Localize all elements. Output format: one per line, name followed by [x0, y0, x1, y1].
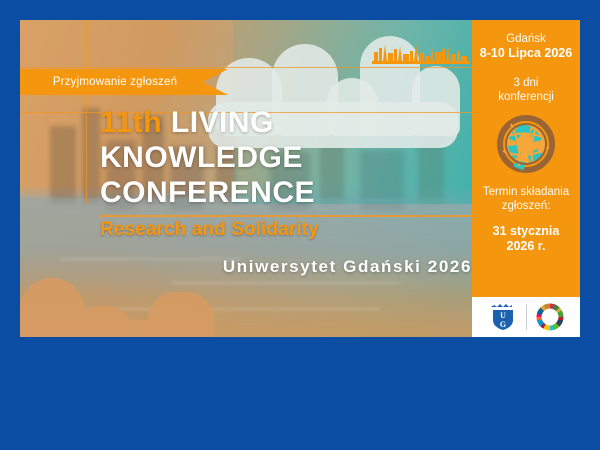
logo-divider: [526, 304, 527, 330]
deadline-value-line-1: 31 stycznia: [478, 224, 574, 240]
info-sidebar: Gdańsk 8-10 Lipca 2026 3 dni konferencji: [472, 20, 580, 297]
headline-line-2: KNOWLEDGE: [100, 141, 470, 176]
university-of-gdansk-crest: U G: [488, 302, 518, 332]
headline-block: 11th LIVING KNOWLEDGE CONFERENCE Researc…: [100, 106, 470, 277]
deadline-value-line-2: 2026 r.: [478, 239, 574, 255]
conference-banner: Przyjmowanie zgłoszeń 11th LIVING KNOWLE…: [20, 20, 580, 337]
sidebar-dates: 8-10 Lipca 2026: [478, 46, 574, 62]
globe-icon: [497, 115, 555, 173]
city-skyline-icon: [372, 40, 470, 64]
sdg-color-wheel-icon: [535, 302, 565, 332]
guide-line-vertical: [86, 20, 87, 204]
headline-line-3: CONFERENCE: [100, 176, 470, 211]
building-silhouette: [50, 126, 76, 204]
svg-text:G: G: [499, 320, 505, 329]
deadline-label-line-1: Termin składania: [478, 185, 574, 199]
building-silhouette: [82, 108, 100, 204]
ribbon-label: Przyjmowanie zgłoszeń: [53, 76, 177, 88]
conference-subtitle: Research and Solidarity: [100, 219, 470, 241]
sidebar-city: Gdańsk: [478, 32, 574, 46]
headline-divider: [100, 215, 472, 217]
tan-blob: [148, 292, 214, 337]
guide-line-horizontal: [20, 67, 472, 68]
conference-venue: Uniwersytet Gdański 2026: [100, 257, 472, 277]
svg-text:U: U: [500, 311, 506, 320]
water-reflection: [170, 282, 400, 284]
water-reflection: [80, 308, 380, 310]
sidebar-duration-line-2: konferencji: [478, 90, 574, 104]
logo-strip: U G: [472, 297, 580, 337]
headline-line-1-rest: LIVING: [162, 106, 274, 139]
submission-status-ribbon: Przyjmowanie zgłoszeń: [20, 69, 228, 95]
deadline-label-line-2: zgłoszeń:: [478, 199, 574, 213]
headline-line-1: 11th LIVING: [100, 106, 470, 141]
sidebar-duration-line-1: 3 dni: [478, 76, 574, 90]
edition-ordinal: 11th: [100, 106, 162, 139]
